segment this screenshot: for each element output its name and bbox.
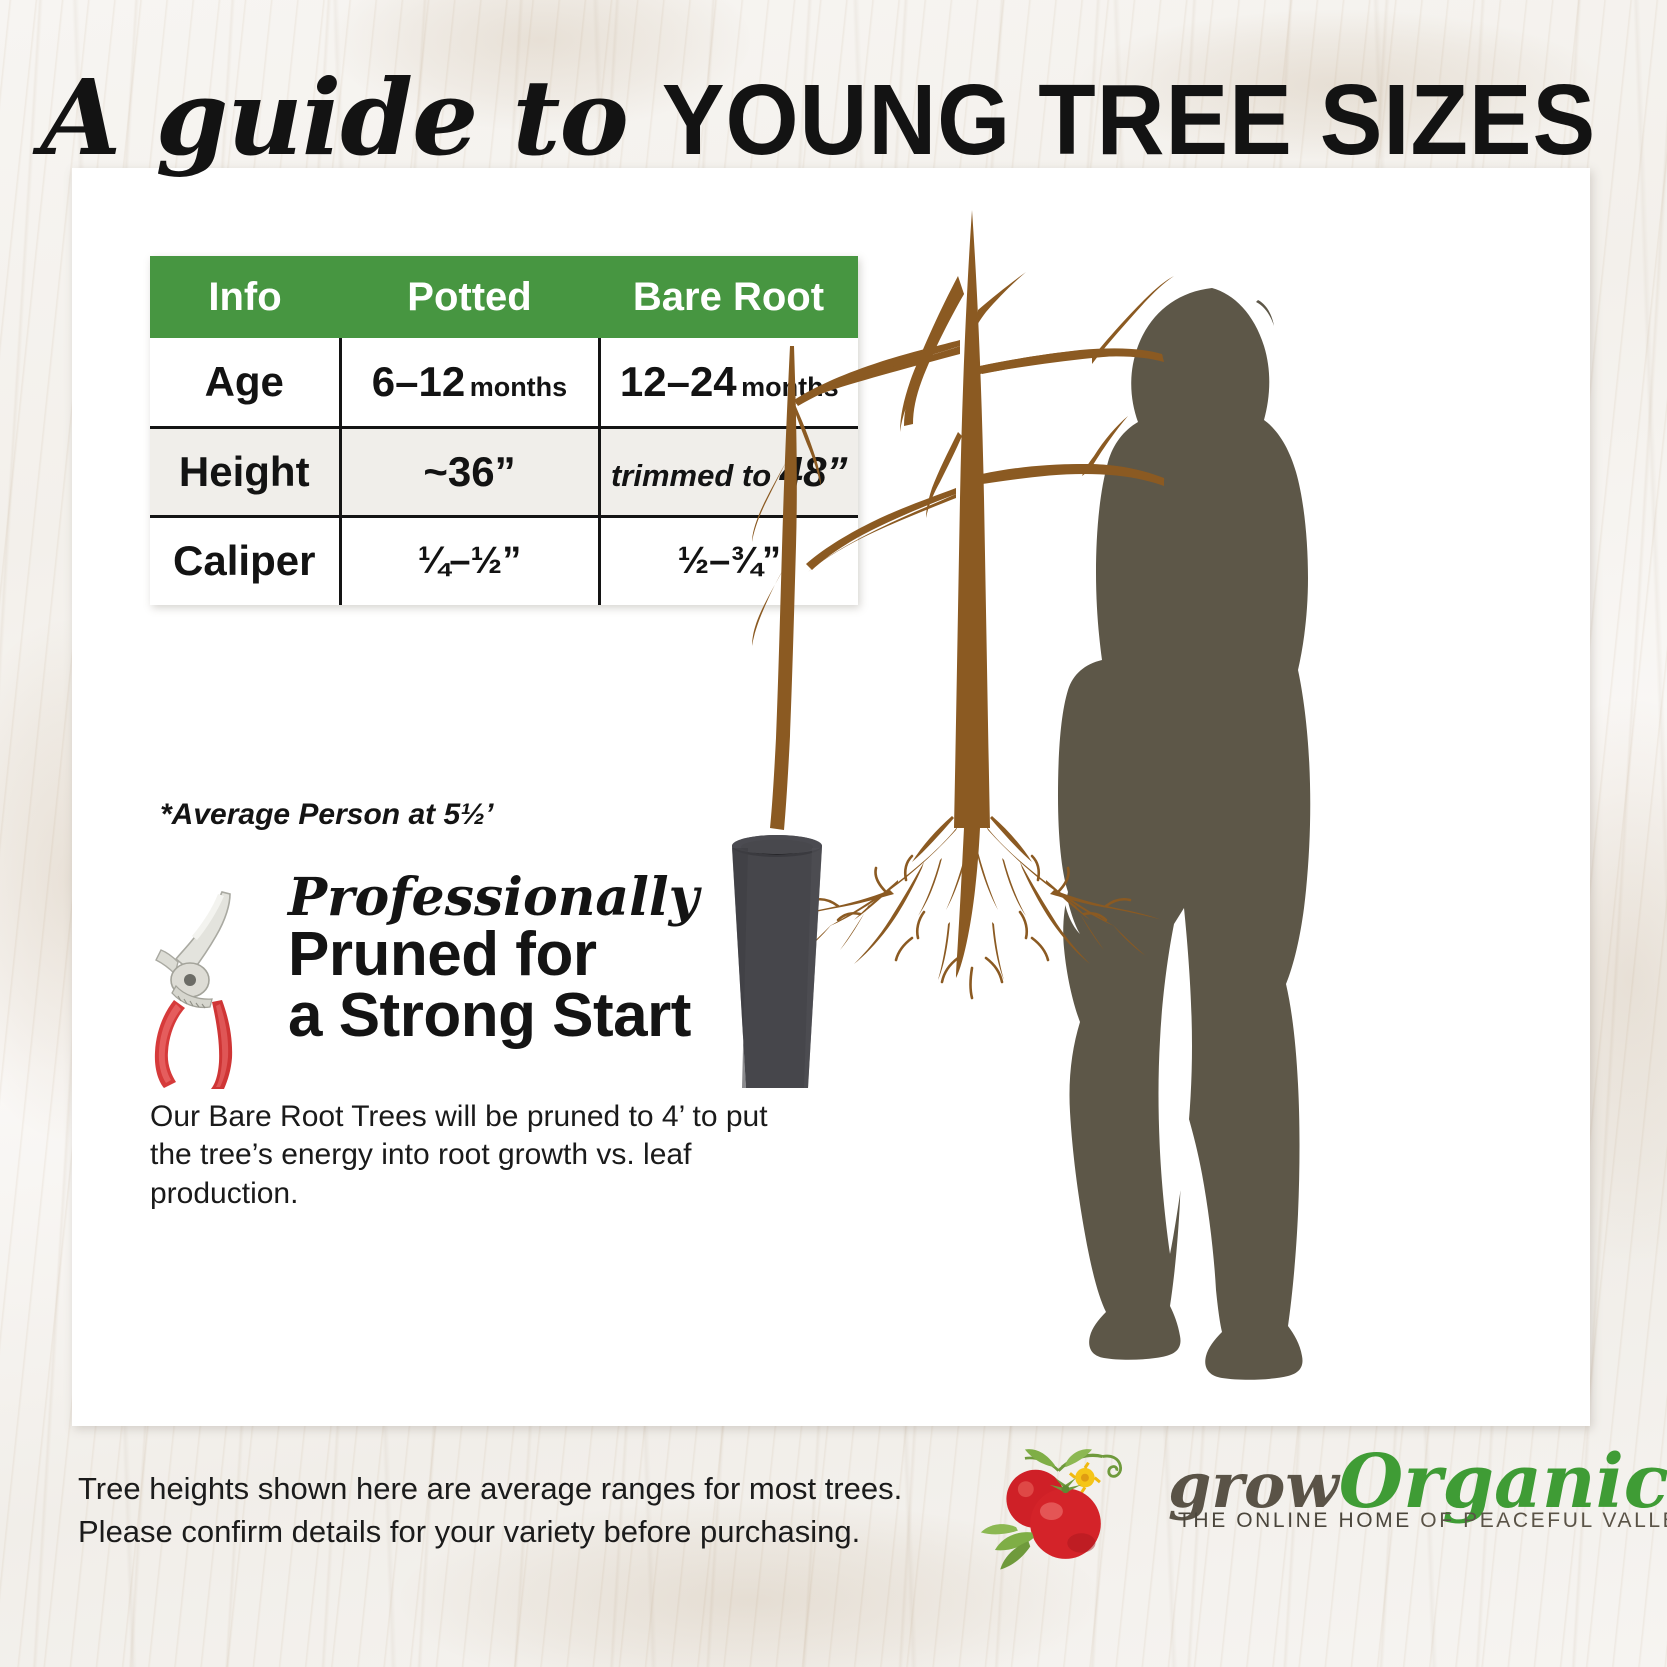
pruned-bold-line-2: a Strong Start	[288, 985, 699, 1046]
person-silhouette-illustration	[1058, 288, 1310, 1380]
row-label-age: Age	[150, 338, 340, 427]
page-title: A guide to YOUNG TREE SIZES	[0, 56, 1667, 179]
pruning-shears-icon	[150, 880, 280, 1090]
potted-tree-illustration	[732, 346, 822, 1088]
tomato-vine-icon	[962, 1423, 1162, 1573]
age-potted-value: 6–12	[372, 358, 465, 405]
pruned-script-line: Professionally	[288, 872, 699, 924]
pruned-bold-line-1: Pruned for	[288, 924, 699, 985]
table-header-potted: Potted	[340, 256, 599, 338]
pruned-body-line-2: the tree’s energy into root growth vs. l…	[150, 1138, 691, 1209]
cell-height-potted: ~36”	[340, 427, 599, 516]
logo-tagline-part-1: THE ONLINE HOME	[1178, 1509, 1412, 1532]
cell-caliper-potted: ¼–½”	[340, 516, 599, 605]
logo-tagline-part-2: OF PEACEFUL VALLEY	[1420, 1509, 1667, 1532]
tree-size-illustrations	[672, 168, 1590, 1426]
footer-line-1: Tree heights shown here are average rang…	[78, 1471, 902, 1506]
footer-line-2: Please confirm details for your variety …	[78, 1514, 860, 1549]
pruned-heading: Professionally Pruned for a Strong Start	[288, 872, 699, 1047]
age-potted-unit: months	[470, 372, 568, 402]
average-person-note: *Average Person at 5½’	[160, 798, 494, 832]
page-title-caps: YOUNG TREE SIZES	[662, 63, 1596, 178]
row-label-height: Height	[150, 427, 340, 516]
cell-age-potted: 6–12 months	[340, 338, 599, 427]
infographic-canvas: A guide to YOUNG TREE SIZES Info Potted …	[0, 0, 1667, 1667]
brand-logo-tagline: THE ONLINE HOME OF PEACEFUL VALLEY	[1178, 1509, 1667, 1533]
page-title-script: A guide to	[41, 56, 628, 179]
content-card: Info Potted Bare Root Age 6–12 months 12…	[72, 168, 1590, 1426]
brand-logo[interactable]: growOrganic.com THE ONLINE HOME OF PEACE…	[962, 1405, 1592, 1575]
table-header-info: Info	[150, 256, 340, 338]
footer-disclaimer: Tree heights shown here are average rang…	[78, 1468, 902, 1554]
row-label-caliper: Caliper	[150, 516, 340, 605]
